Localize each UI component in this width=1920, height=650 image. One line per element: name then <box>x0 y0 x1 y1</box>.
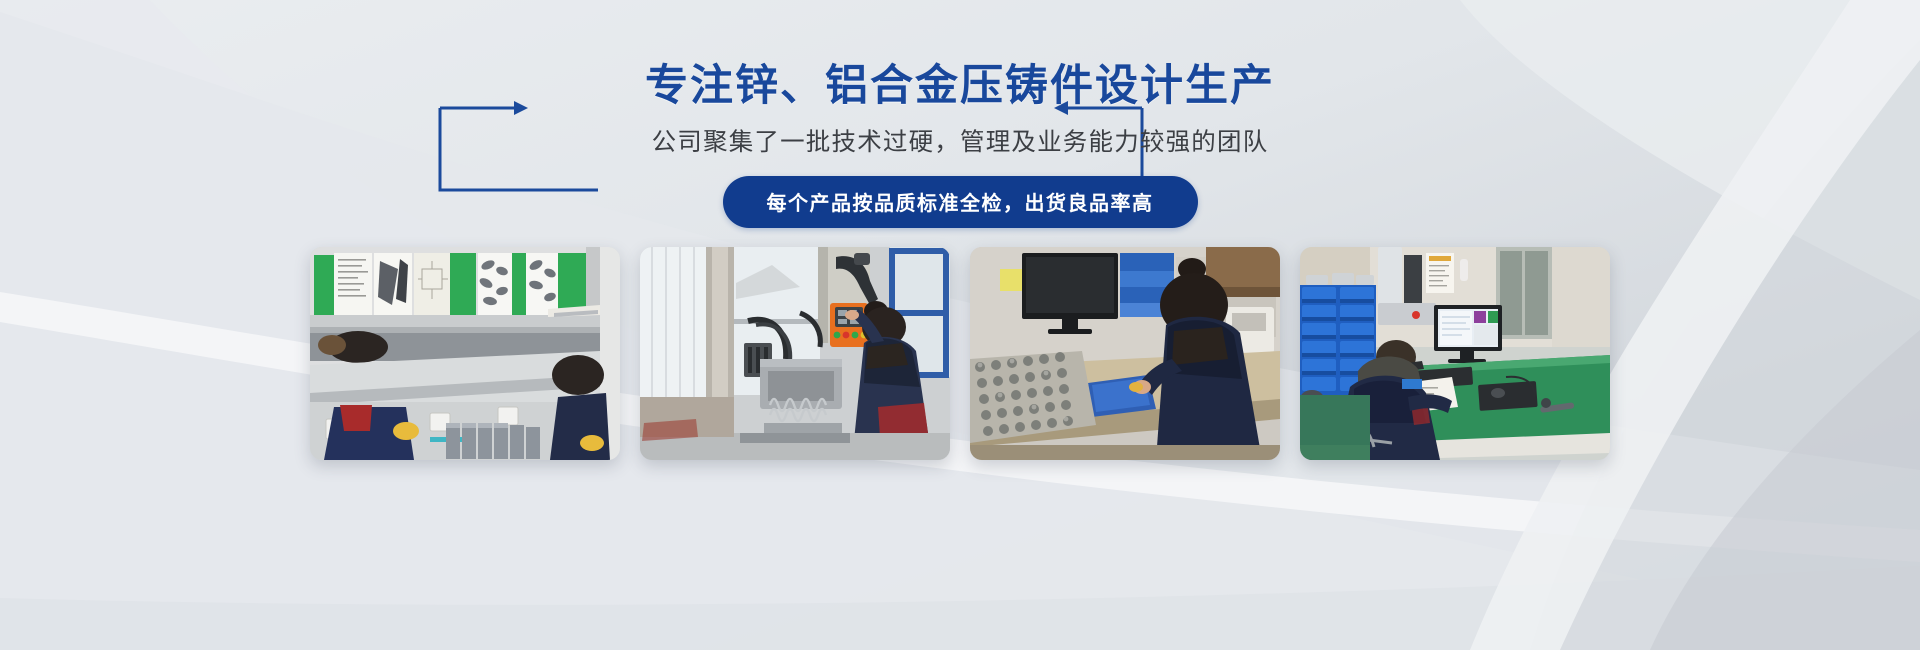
photo-office-workstation[interactable]: 技术员在电脑前核对图纸 <box>1300 247 1610 460</box>
promo-banner: 专注锌、铝合金压铸件设计生产 公司聚集了一批技术过硬，管理及业务能力较强的团队 … <box>0 0 1920 650</box>
page-subtitle: 公司聚集了一批技术过硬，管理及业务能力较强的团队 <box>0 126 1920 160</box>
factory-photo-strip: 工人在装配流水线上作业 <box>0 247 1920 460</box>
quality-highlight-badge: 每个产品按品质标准全检，出货良品率高 <box>723 176 1198 228</box>
page-title: 专注锌、铝合金压铸件设计生产 <box>0 60 1920 114</box>
photo-quality-inspection[interactable]: 质检员在工位检验产品 <box>970 247 1280 460</box>
photo-assembly-line[interactable]: 工人在装配流水线上作业 <box>310 247 620 460</box>
photo-die-casting-machine[interactable]: 工人操作压铸设备控制面板 <box>640 247 950 460</box>
highlight-pill-container: 每个产品按品质标准全检，出货良品率高 <box>0 176 1920 228</box>
headline-block: 专注锌、铝合金压铸件设计生产 公司聚集了一批技术过硬，管理及业务能力较强的团队 … <box>0 60 1920 228</box>
